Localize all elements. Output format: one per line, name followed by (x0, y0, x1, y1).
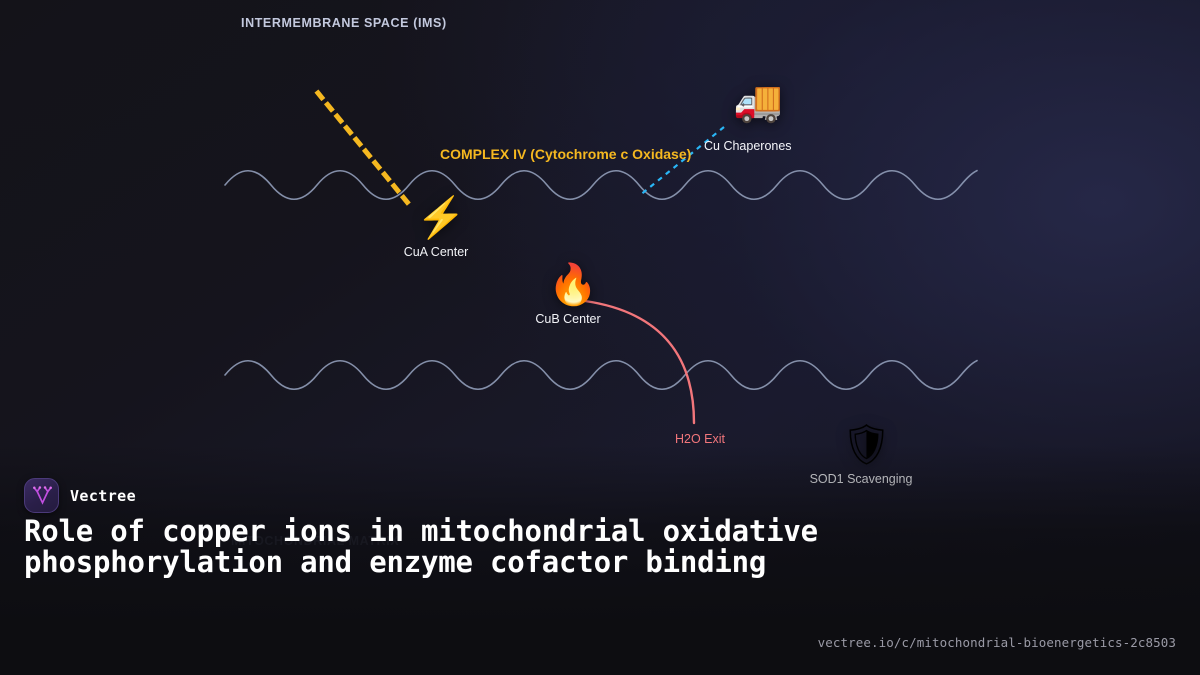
fire-icon: 🔥 (548, 265, 588, 305)
delivery-truck-icon: 🚚 (733, 82, 773, 122)
node-cua-center[interactable]: ⚡ CuA Center (416, 198, 456, 259)
brand-name: Vectree (70, 487, 136, 505)
node-caption-cua-center: CuA Center (376, 245, 496, 259)
node-sod1-scavenging[interactable]: 🛡 SOD1 Scavenging (841, 425, 881, 486)
node-cub-center[interactable]: 🔥 CuB Center (548, 265, 588, 326)
node-caption-cub-center: CuB Center (508, 312, 628, 326)
node-caption-sod1-scavenging: SOD1 Scavenging (791, 472, 931, 486)
brand-block: Vectree (24, 478, 136, 513)
inner-membrane-wave (225, 361, 977, 390)
complex-iv-label: COMPLEX IV (Cytochrome c Oxidase) (440, 146, 691, 162)
electron-flow-path (318, 93, 412, 208)
high-voltage-icon: ⚡ (416, 198, 456, 238)
zone-label-ims: INTERMEMBRANE SPACE (IMS) (241, 16, 447, 30)
source-url: vectree.io/c/mitochondrial-bioenergetics… (818, 635, 1176, 650)
vectree-logo-icon (24, 478, 59, 513)
node-cu-chaperones[interactable]: 🚚 (733, 82, 773, 122)
flow-label-h2o-exit: H2O Exit (675, 432, 725, 446)
page-title: Role of copper ions in mitochondrial oxi… (24, 516, 824, 579)
diagram-canvas: INTERMEMBRANE SPACE (IMS) MITOCHONDRIAL … (0, 0, 1200, 675)
outer-membrane-wave (225, 171, 977, 200)
flow-label-cu-chaperones: Cu Chaperones (704, 139, 792, 153)
shield-icon: 🛡 (841, 425, 881, 465)
